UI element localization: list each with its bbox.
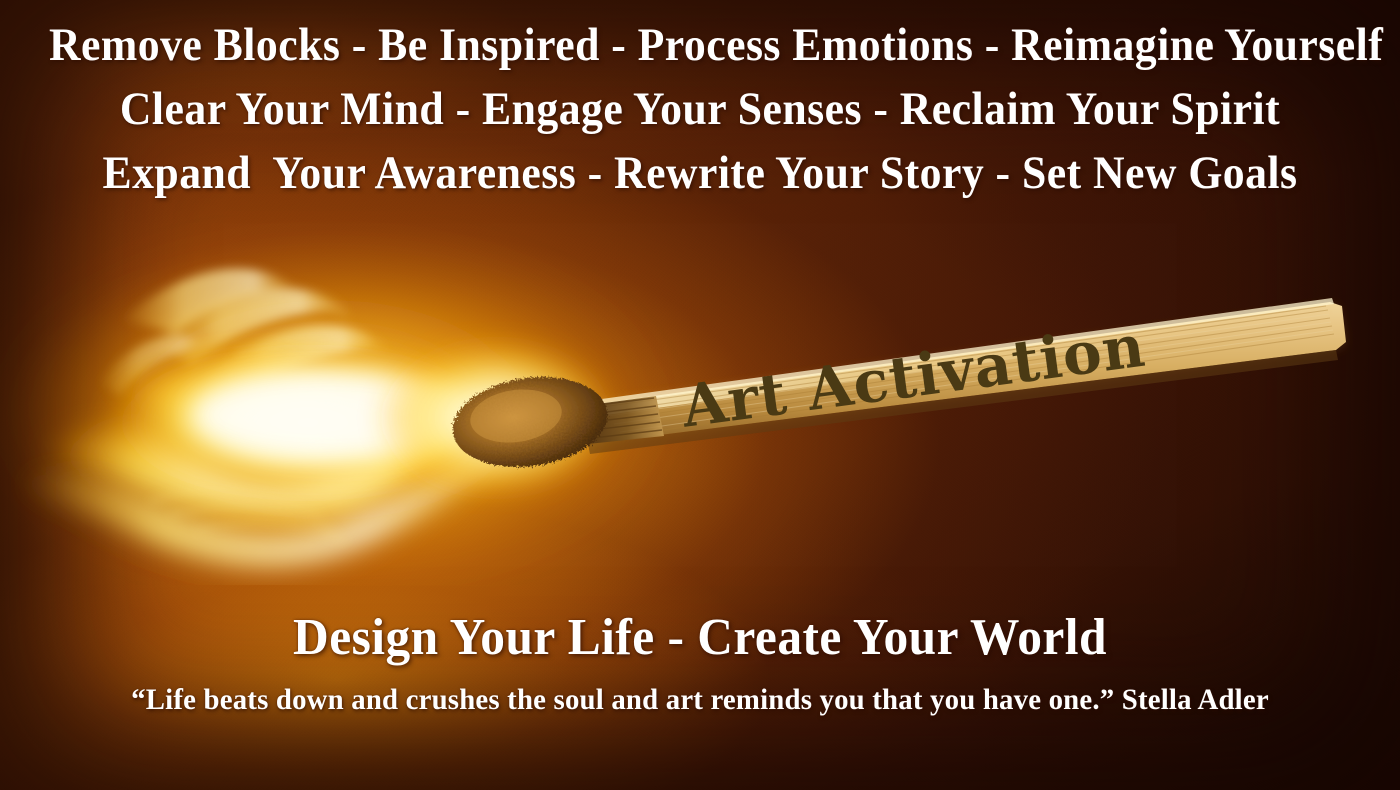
tagline: Design Your Life - Create Your World	[35, 612, 1365, 664]
headline-line-2: Clear Your Mind - Engage Your Senses - R…	[49, 86, 1351, 133]
poster-canvas: Art Activation Remove Blocks - Be Inspir…	[0, 0, 1400, 790]
headline-line-1: Remove Blocks - Be Inspired - Process Em…	[49, 22, 1351, 69]
quote-attribution: “Life beats down and crushes the soul an…	[28, 685, 1372, 715]
text-layer: Remove Blocks - Be Inspired - Process Em…	[0, 0, 1400, 790]
headline-line-3: Expand Your Awareness - Rewrite Your Sto…	[49, 150, 1351, 197]
